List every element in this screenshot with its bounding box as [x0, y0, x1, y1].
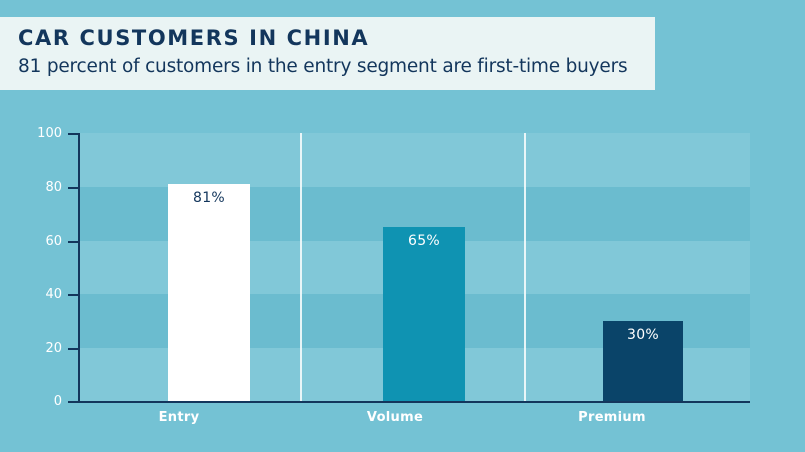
- bar-chart: 81% 65% 30% 100 80 60 40 20 0 Entry Volu…: [0, 0, 805, 452]
- x-axis-line: [78, 401, 750, 403]
- y-tick-label-20: 20: [28, 341, 62, 356]
- bar-entry[interactable]: 81%: [168, 184, 250, 402]
- y-tick-label-100: 100: [28, 126, 62, 141]
- bar-volume[interactable]: 65%: [383, 227, 465, 402]
- category-separator-2: [524, 133, 526, 402]
- x-tick-label-entry: Entry: [118, 410, 240, 425]
- band-80-100: [78, 133, 750, 187]
- y-tick-80: [68, 187, 79, 189]
- y-tick-20: [68, 348, 79, 350]
- infographic-root: CAR CUSTOMERS IN CHINA 81 percent of cus…: [0, 0, 805, 452]
- y-tick-label-40: 40: [28, 287, 62, 302]
- category-separator-1: [300, 133, 302, 402]
- y-tick-0: [68, 401, 79, 403]
- bar-label-volume: 65%: [383, 233, 465, 249]
- plot-area: 81% 65% 30%: [78, 133, 750, 402]
- y-tick-label-80: 80: [28, 180, 62, 195]
- y-tick-100: [68, 133, 79, 135]
- bar-label-entry: 81%: [168, 190, 250, 206]
- y-axis-line: [78, 133, 80, 403]
- bar-premium[interactable]: 30%: [603, 321, 683, 402]
- y-tick-60: [68, 241, 79, 243]
- x-tick-label-volume: Volume: [334, 410, 456, 425]
- y-tick-40: [68, 294, 79, 296]
- bar-label-premium: 30%: [603, 327, 683, 343]
- y-tick-label-60: 60: [28, 234, 62, 249]
- x-tick-label-premium: Premium: [551, 410, 673, 425]
- y-tick-label-0: 0: [28, 394, 62, 409]
